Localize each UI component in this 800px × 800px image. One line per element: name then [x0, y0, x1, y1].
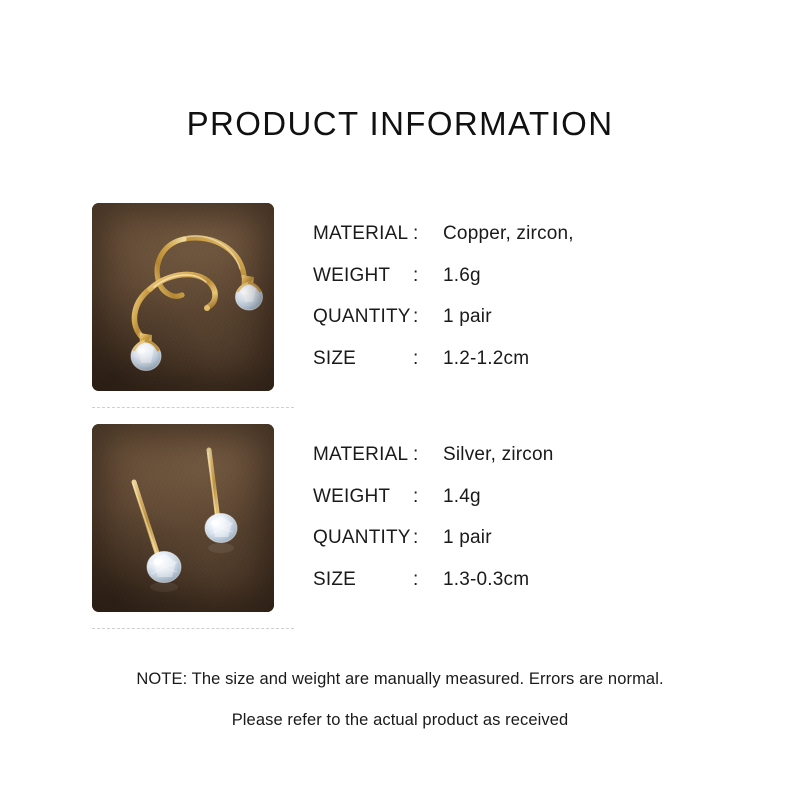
product-information-page: PRODUCT INFORMATION — [0, 0, 800, 800]
spec-label-material: MATERIAL — [313, 222, 408, 246]
photo-vignette — [92, 424, 274, 612]
product-photo-hoop-earrings[interactable] — [92, 203, 274, 391]
footer-note-measurement: NOTE: The size and weight are manually m… — [0, 668, 800, 690]
spec-separator: : — [413, 222, 418, 246]
spec-value-size: 1.3-0.3cm — [443, 568, 529, 592]
spec-label-material: MATERIAL — [313, 443, 408, 467]
section-divider — [92, 628, 294, 629]
spec-value-material: Copper, zircon, — [443, 222, 574, 246]
photo-vignette — [92, 203, 274, 391]
spec-label-quantity: QUANTITY — [313, 305, 411, 329]
spec-label-size: SIZE — [313, 568, 356, 592]
spec-separator: : — [413, 347, 418, 371]
page-title: PRODUCT INFORMATION — [0, 104, 800, 144]
spec-separator: : — [413, 443, 418, 467]
spec-value-size: 1.2-1.2cm — [443, 347, 529, 371]
spec-label-quantity: QUANTITY — [313, 526, 411, 550]
spec-value-material: Silver, zircon — [443, 443, 554, 467]
spec-label-size: SIZE — [313, 347, 356, 371]
spec-value-weight: 1.4g — [443, 485, 481, 509]
spec-label-weight: WEIGHT — [313, 264, 390, 288]
spec-separator: : — [413, 526, 418, 550]
spec-value-quantity: 1 pair — [443, 526, 492, 550]
section-divider — [92, 407, 294, 408]
product-photo-stud-earrings[interactable] — [92, 424, 274, 612]
spec-value-weight: 1.6g — [443, 264, 481, 288]
spec-separator: : — [413, 264, 418, 288]
footer-note-actual-product: Please refer to the actual product as re… — [0, 709, 800, 731]
spec-label-weight: WEIGHT — [313, 485, 390, 509]
spec-separator: : — [413, 485, 418, 509]
spec-separator: : — [413, 305, 418, 329]
spec-value-quantity: 1 pair — [443, 305, 492, 329]
spec-separator: : — [413, 568, 418, 592]
